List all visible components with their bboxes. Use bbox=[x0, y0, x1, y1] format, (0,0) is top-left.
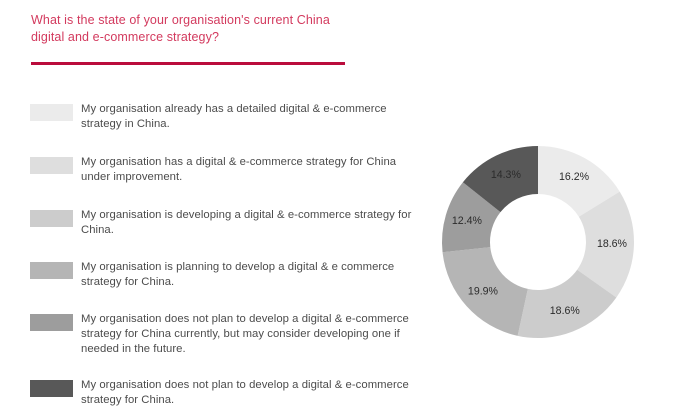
legend-item-label: My organisation does not plan to develop… bbox=[81, 378, 421, 408]
legend-item-label: My organisation is developing a digital … bbox=[81, 208, 421, 238]
donut-slice-label: 18.6% bbox=[597, 238, 628, 250]
donut-slice-label: 16.2% bbox=[559, 171, 590, 183]
legend-swatch-icon bbox=[30, 104, 73, 121]
title-divider-rule bbox=[31, 62, 345, 65]
legend-item-label: My organisation is planning to develop a… bbox=[81, 260, 421, 290]
legend-swatch-icon bbox=[30, 210, 73, 227]
donut-slice-label: 14.3% bbox=[491, 169, 522, 181]
legend-item-label: My organisation already has a detailed d… bbox=[81, 102, 421, 132]
page-title: What is the state of your organisation's… bbox=[31, 12, 361, 46]
legend-swatch-icon bbox=[30, 380, 73, 397]
donut-chart-svg: 16.2%18.6%18.6%19.9%12.4%14.3% bbox=[432, 136, 644, 348]
donut-chart: 16.2%18.6%18.6%19.9%12.4%14.3% bbox=[432, 136, 644, 348]
legend-swatch-icon bbox=[30, 314, 73, 331]
donut-slice-label: 18.6% bbox=[550, 305, 581, 317]
legend-swatch-icon bbox=[30, 157, 73, 174]
donut-slice-label: 12.4% bbox=[452, 215, 483, 227]
donut-slice-label: 19.9% bbox=[468, 285, 499, 297]
legend-item-label: My organisation has a digital & e-commer… bbox=[81, 155, 421, 185]
legend-swatch-icon bbox=[30, 262, 73, 279]
legend-item-label: My organisation does not plan to develop… bbox=[81, 312, 421, 357]
